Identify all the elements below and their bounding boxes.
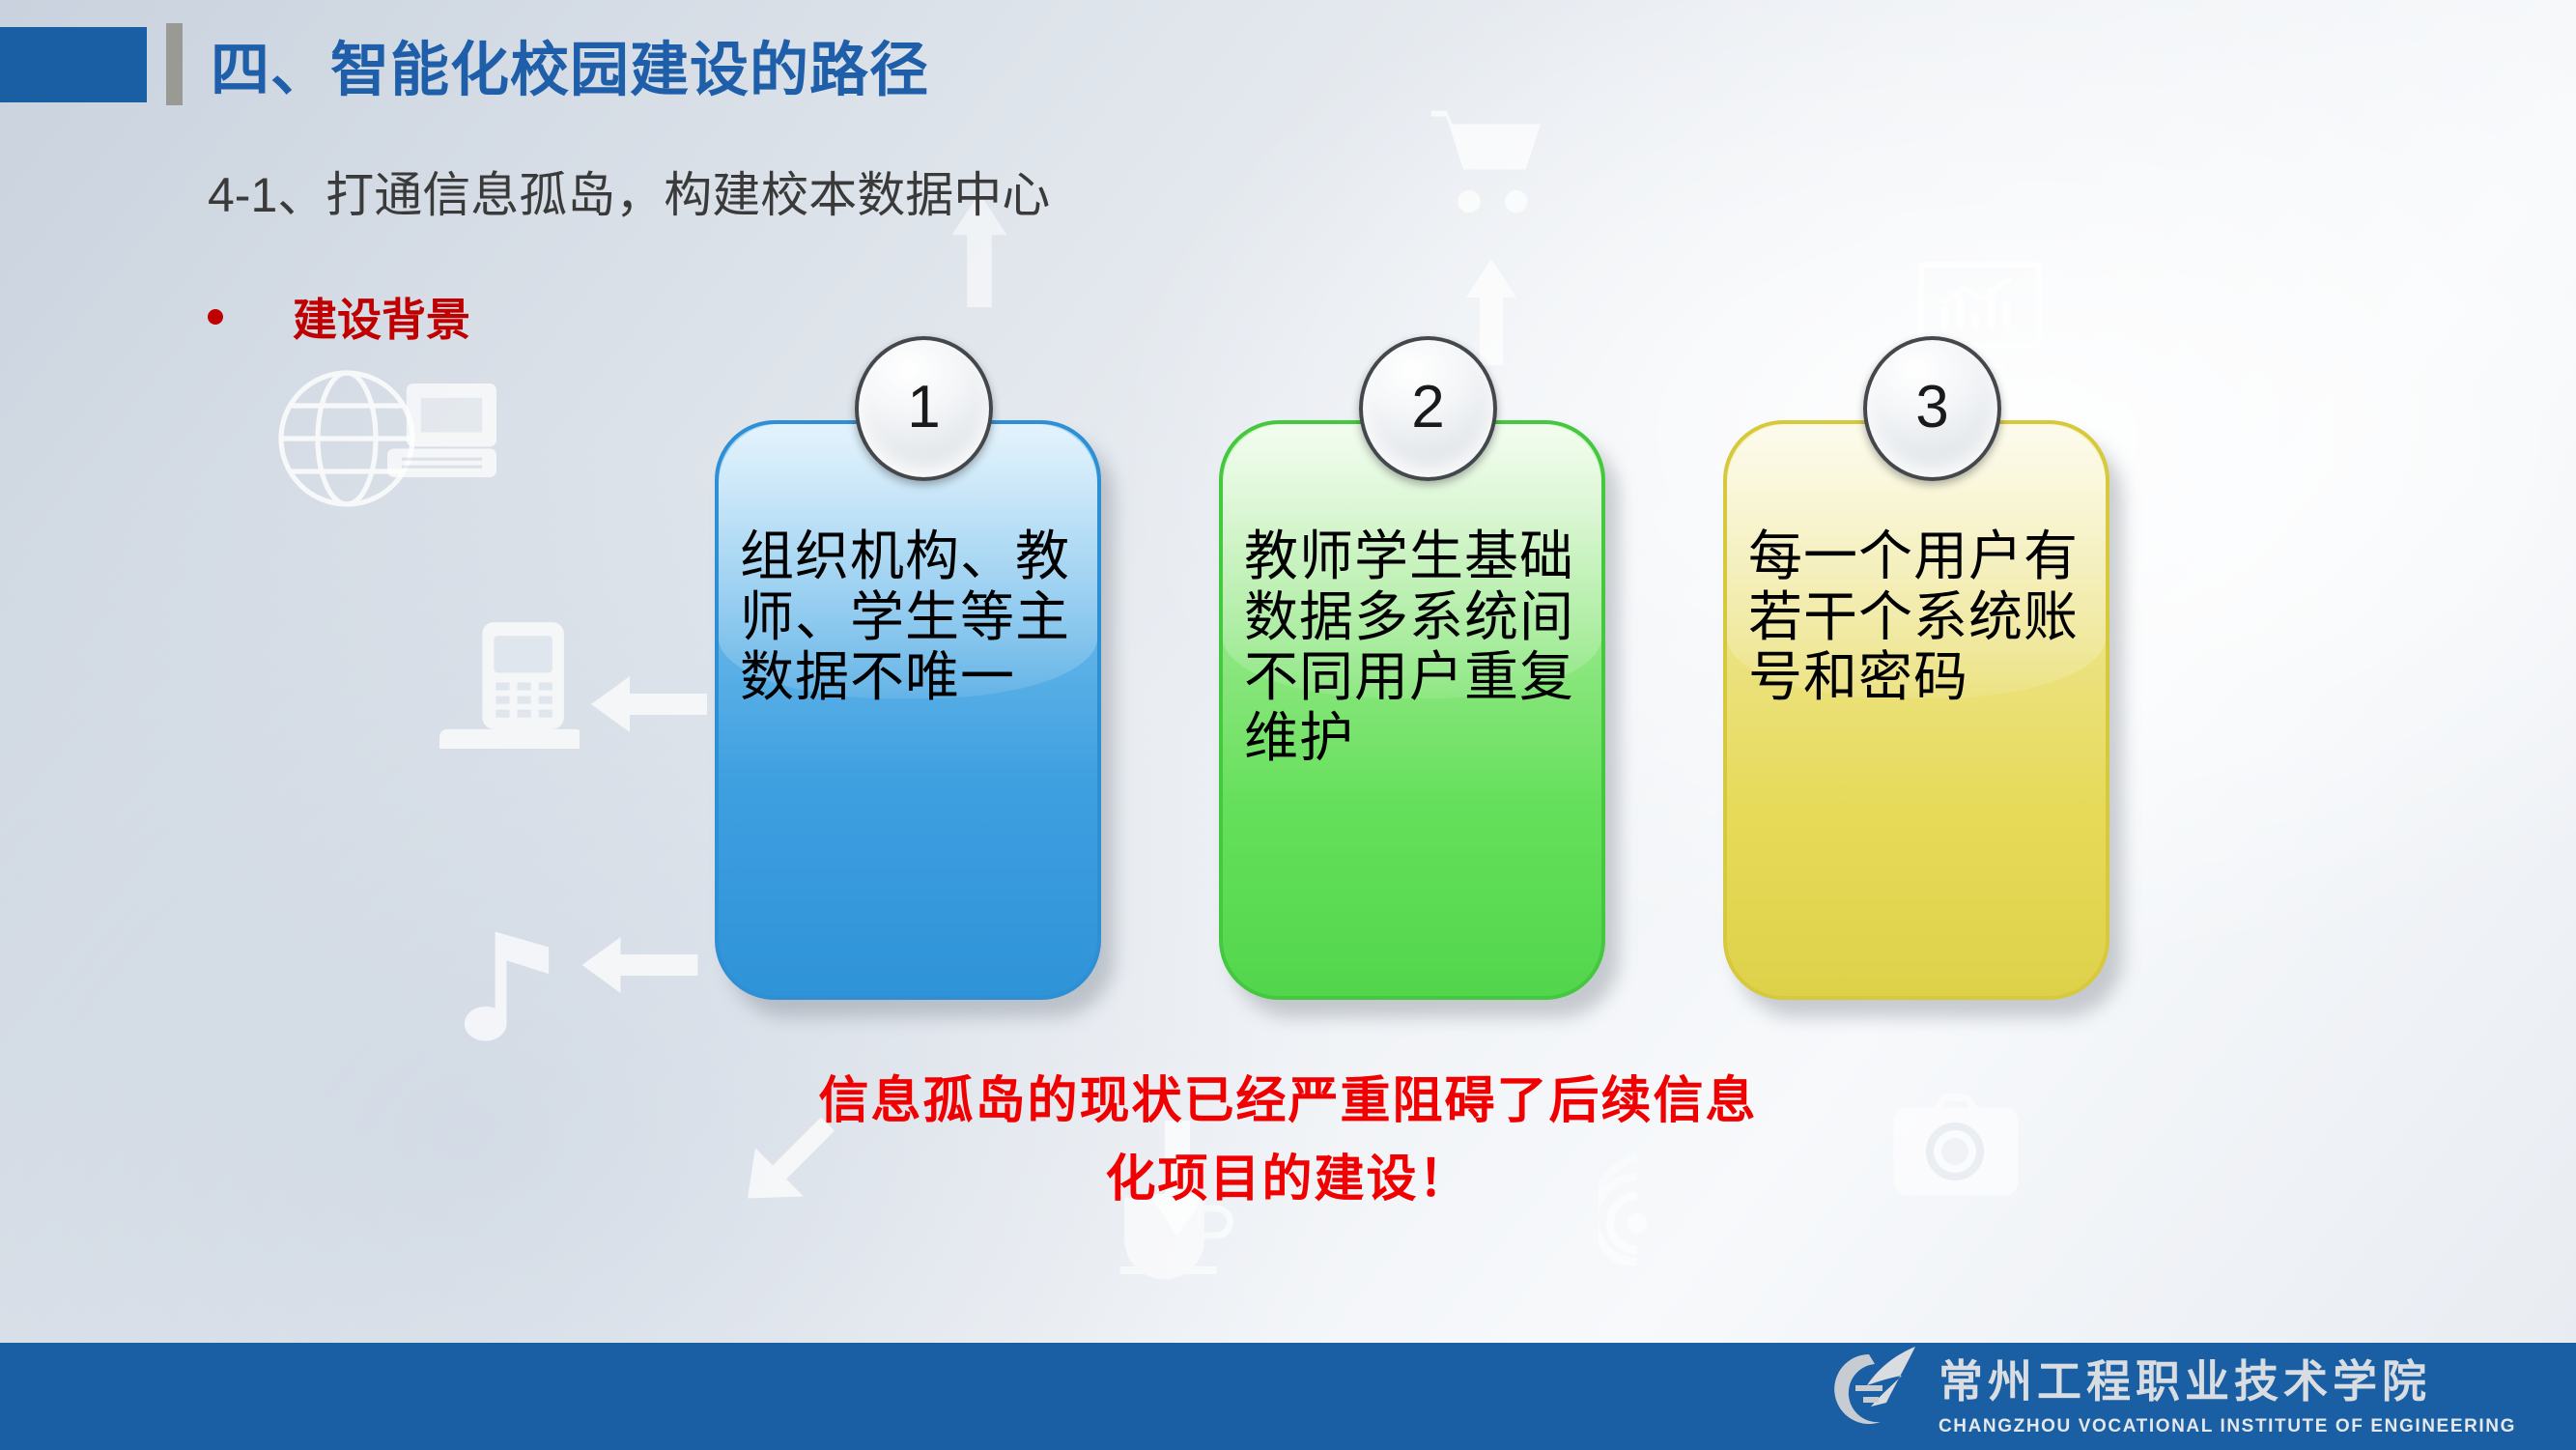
- issue-card-3: 每一个用户有若干个系统账号和密码: [1723, 420, 2109, 1000]
- conclusion-line-2: 化项目的建设！: [0, 1141, 2576, 1219]
- card-text: 组织机构、教师、学生等主数据不唯一: [740, 526, 1084, 708]
- card-text: 每一个用户有若干个系统账号和密码: [1748, 526, 2092, 708]
- music-note-icon: [449, 927, 560, 1053]
- bullet-label: 建设背景: [293, 285, 470, 349]
- institution-name-en: CHANGZHOU VOCATIONAL INSTITUTE OF ENGINE…: [1939, 1416, 2516, 1437]
- page-title: 四、智能化校园建设的路径: [211, 21, 929, 107]
- shopping-cart-icon: [1428, 106, 1548, 217]
- arrow-left-icon: [580, 937, 700, 993]
- card-number-badge-2: 2: [1359, 336, 1497, 481]
- card-number: 2: [1411, 373, 1444, 441]
- presentation-slide: 四、智能化校园建设的路径 4-1、打通信息孤岛，构建校本数据中心 建设背景 组织…: [0, 0, 2576, 1450]
- footer-bar: 常州工程职业技术学院 CHANGZHOU VOCATIONAL INSTITUT…: [0, 1343, 2576, 1450]
- bullet-dot-icon: [208, 309, 223, 325]
- conclusion-line-1: 信息孤岛的现状已经严重阻碍了后续信息: [0, 1063, 2576, 1141]
- card-body: 组织机构、教师、学生等主数据不唯一: [715, 420, 1101, 1000]
- cordless-phone-icon: [439, 618, 580, 749]
- desktop-computer-icon: [386, 382, 497, 483]
- title-accent-bar: [166, 23, 183, 105]
- card-number-badge-3: 3: [1863, 336, 2001, 481]
- issue-card-2: 教师学生基础数据多系统间不同用户重复维护: [1219, 420, 1605, 1000]
- bullet-row: 建设背景: [208, 285, 470, 349]
- arrow-up-icon: [1466, 259, 1516, 365]
- institution-emblem-icon: [1817, 1343, 1921, 1440]
- card-body: 每一个用户有若干个系统账号和密码: [1723, 420, 2109, 1000]
- card-number: 1: [907, 373, 940, 441]
- institution-names: 常州工程职业技术学院 CHANGZHOU VOCATIONAL INSTITUT…: [1939, 1347, 2516, 1437]
- title-accent-block: [0, 27, 147, 102]
- institution-name-cn: 常州工程职业技术学院: [1939, 1347, 2431, 1410]
- arrow-left-icon: [591, 676, 707, 732]
- card-body: 教师学生基础数据多系统间不同用户重复维护: [1219, 420, 1605, 1000]
- issue-card-1: 组织机构、教师、学生等主数据不唯一: [715, 420, 1101, 1000]
- globe-icon: [275, 367, 420, 512]
- conclusion-text: 信息孤岛的现状已经严重阻碍了后续信息 化项目的建设！: [0, 1063, 2576, 1218]
- card-number-badge-1: 1: [855, 336, 993, 481]
- card-number: 3: [1915, 373, 1948, 441]
- institution-logo: 常州工程职业技术学院 CHANGZHOU VOCATIONAL INSTITUT…: [1817, 1343, 2516, 1440]
- card-text: 教师学生基础数据多系统间不同用户重复维护: [1244, 526, 1588, 769]
- page-subtitle: 4-1、打通信息孤岛，构建校本数据中心: [208, 156, 1050, 226]
